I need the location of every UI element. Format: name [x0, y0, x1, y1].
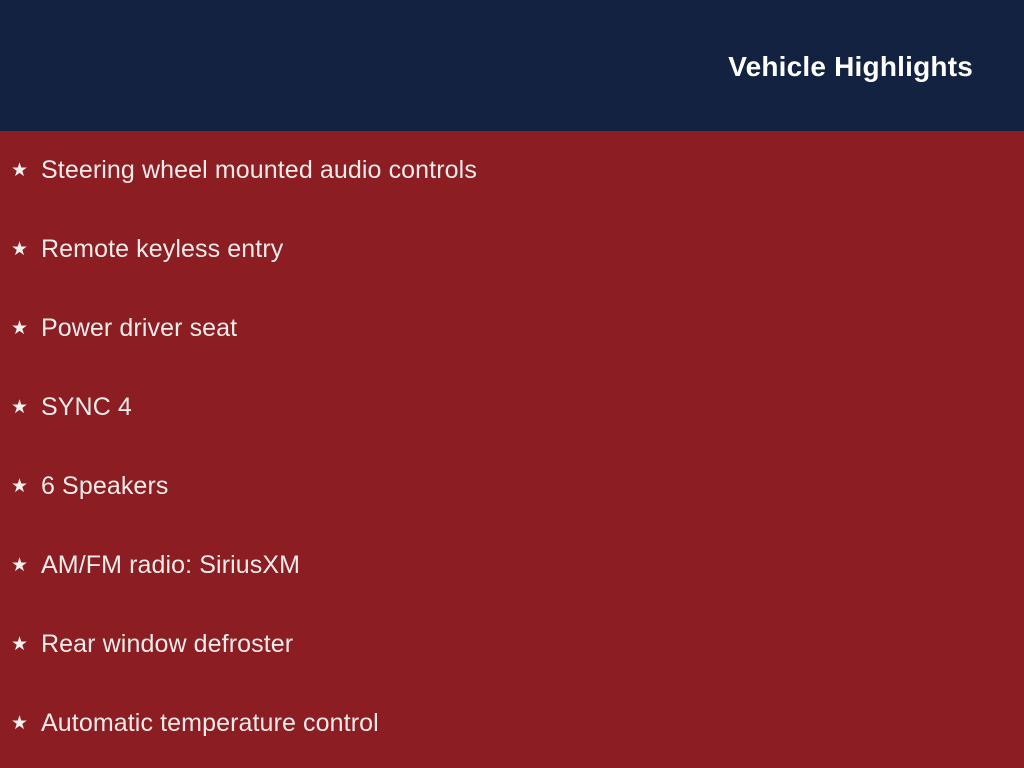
feature-label: Steering wheel mounted audio controls	[41, 157, 477, 185]
star-bullet-icon: ★	[11, 240, 41, 259]
feature-label: Automatic temperature control	[41, 710, 379, 738]
star-bullet-icon: ★	[11, 161, 41, 180]
list-item: ★ 6 Speakers	[0, 447, 1024, 526]
vehicle-feature-list: ★ Steering wheel mounted audio controls …	[0, 131, 1024, 763]
list-item: ★ AM/FM radio: SiriusXM	[0, 526, 1024, 605]
feature-label: SYNC 4	[41, 394, 132, 422]
slide-canvas: Vehicle Highlights ★ Steering wheel moun…	[0, 0, 1024, 768]
feature-label: Remote keyless entry	[41, 236, 283, 264]
feature-label: 6 Speakers	[41, 473, 168, 501]
list-item: ★ Automatic temperature control	[0, 684, 1024, 763]
star-bullet-icon: ★	[11, 398, 41, 417]
list-item: ★ Remote keyless entry	[0, 210, 1024, 289]
star-bullet-icon: ★	[11, 556, 41, 575]
slide-header-bar: Vehicle Highlights	[0, 0, 1024, 131]
list-item: ★ Rear window defroster	[0, 605, 1024, 684]
star-bullet-icon: ★	[11, 319, 41, 338]
star-bullet-icon: ★	[11, 714, 41, 733]
list-item: ★ Steering wheel mounted audio controls	[0, 131, 1024, 210]
list-item: ★ SYNC 4	[0, 368, 1024, 447]
star-bullet-icon: ★	[11, 635, 41, 654]
feature-label: AM/FM radio: SiriusXM	[41, 552, 300, 580]
feature-label: Rear window defroster	[41, 631, 293, 659]
list-item: ★ Power driver seat	[0, 289, 1024, 368]
slide-content-area: ★ Steering wheel mounted audio controls …	[0, 131, 1024, 768]
feature-label: Power driver seat	[41, 315, 237, 343]
page-title: Vehicle Highlights	[728, 53, 973, 81]
star-bullet-icon: ★	[11, 477, 41, 496]
